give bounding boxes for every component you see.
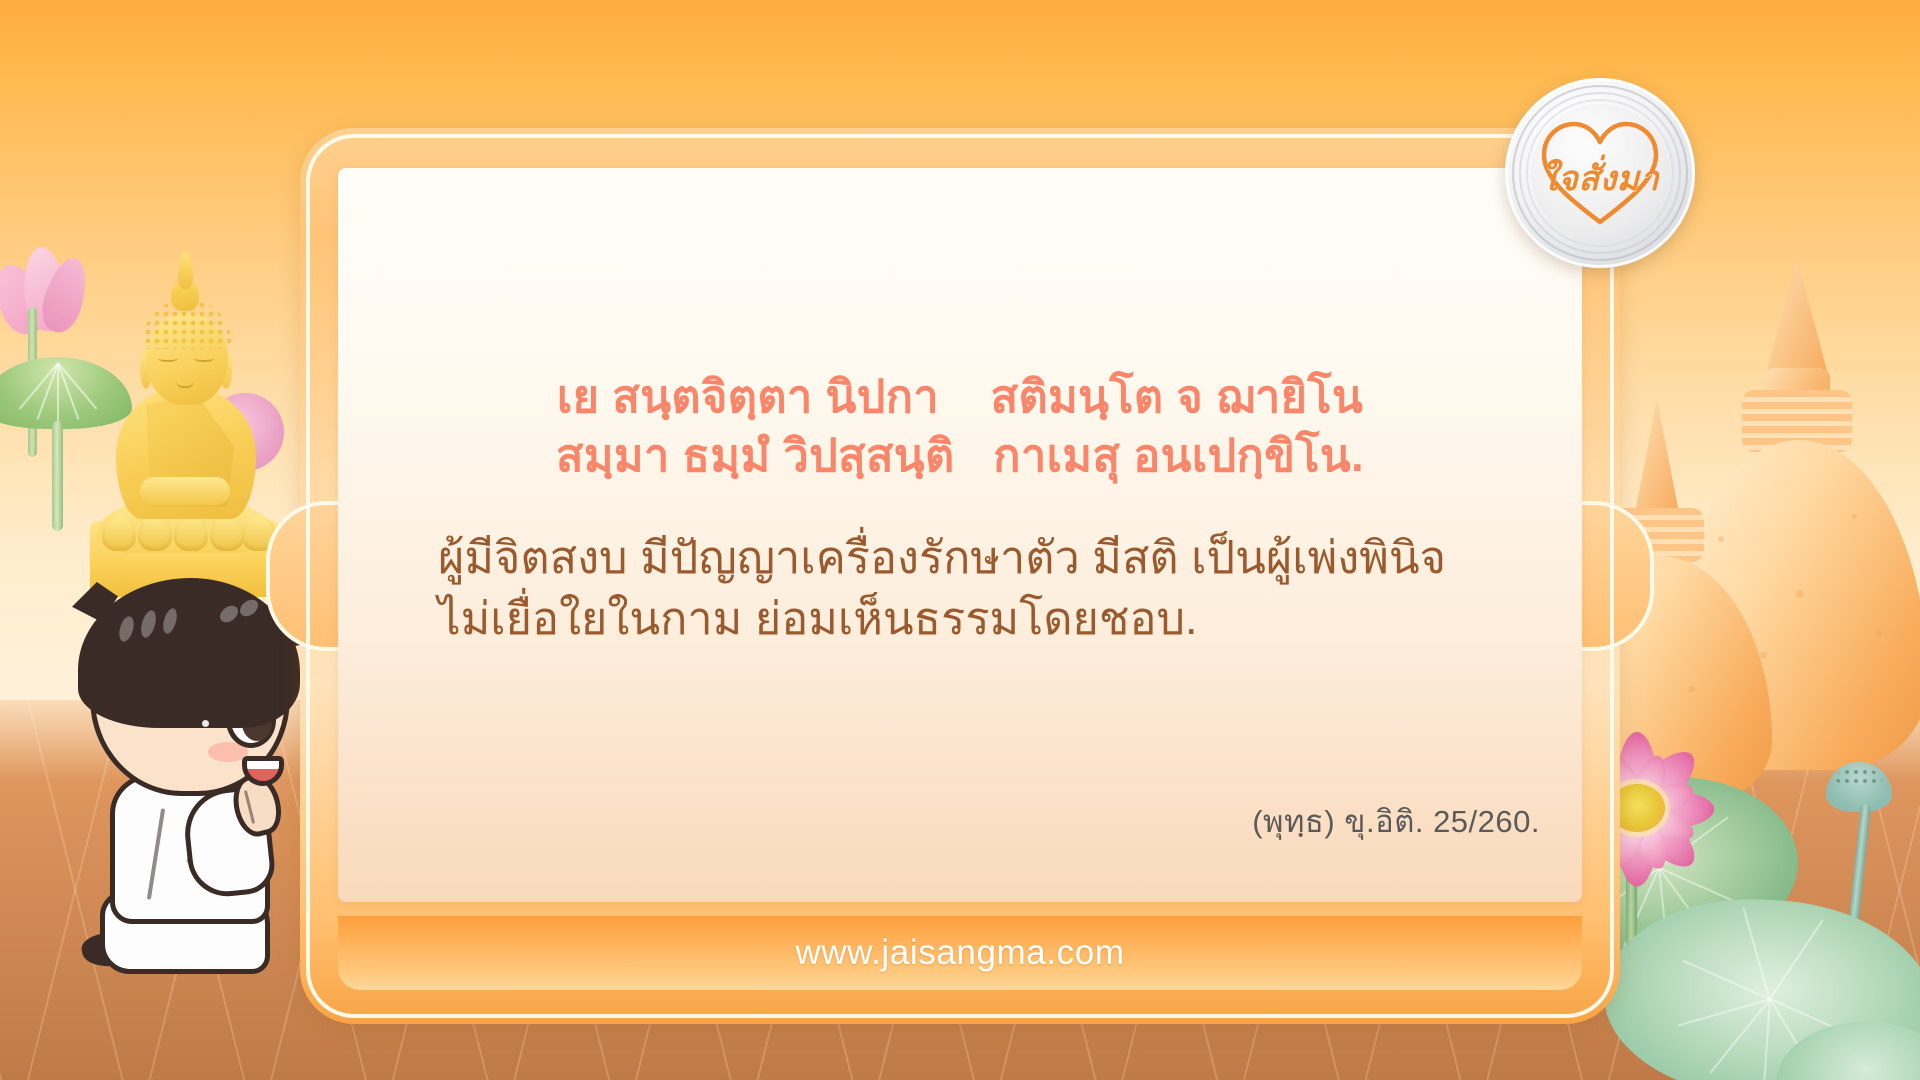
statue-eye-right — [194, 355, 214, 362]
lotus-leaf-stem — [52, 421, 63, 531]
website-url[interactable]: www.jaisangma.com — [795, 933, 1124, 973]
quote-card: เย สนฺตจิตฺตา นิปกา สติมนฺโต จ ฌายิโน สม… — [300, 128, 1620, 1024]
logo-badge[interactable]: ใจสั่งมา — [1505, 78, 1695, 268]
scripture-citation: (พุทฺธ) ขุ.อิติ. 25/260. — [1252, 796, 1540, 846]
card-content-panel: เย สนฺตจิตฺตา นิปกา สติมนฺโต จ ฌายิโน สม… — [338, 168, 1582, 902]
pagoda-spire — [1764, 258, 1830, 382]
footer-bar: www.jaisangma.com — [338, 916, 1582, 990]
pali-line-2: สมฺมา ธมฺมํ วิปสฺสนฺติ กาเมสุ อนเปกฺขิโน… — [414, 427, 1506, 486]
card-content: เย สนฺตจิตฺตา นิปกา สติมนฺโต จ ฌายิโน สม… — [338, 168, 1582, 902]
lotus-bud-icon — [0, 237, 84, 341]
lotus-seed-pod-icon — [1826, 762, 1892, 812]
pagoda-spire — [1634, 400, 1680, 518]
buddha-statue-icon — [84, 237, 284, 597]
boy-face-highlight — [202, 720, 209, 727]
poster-canvas: เย สนฺตจิตฺตา นิปกา สติมนฺโต จ ฌายิโน สม… — [0, 0, 1920, 1080]
translation-line-2: ไม่เยื่อใยในกาม ย่อมเห็นธรรมโดยชอบ. — [438, 588, 1506, 649]
translation-line-1: ผู้มีจิตสงบ มีปัญญาเครื่องรักษาตัว มีสติ… — [438, 527, 1506, 588]
statue-eye-left — [158, 355, 178, 362]
pali-verse: เย สนฺตจิตฺตา นิปกา สติมนฺโต จ ฌายิโน สม… — [414, 368, 1506, 485]
pali-line-1: เย สนฺตจิตฺตา นิปกา สติมนฺโต จ ฌายิโน — [414, 368, 1506, 427]
logo-text: ใจสั่งมา — [1531, 151, 1669, 205]
statue-hands — [140, 477, 230, 505]
statue-flame-finial — [178, 251, 193, 289]
thai-translation: ผู้มีจิตสงบ มีปัญญาเครื่องรักษาตัว มีสติ… — [414, 527, 1506, 649]
badge-face: ใจสั่งมา — [1531, 104, 1669, 242]
